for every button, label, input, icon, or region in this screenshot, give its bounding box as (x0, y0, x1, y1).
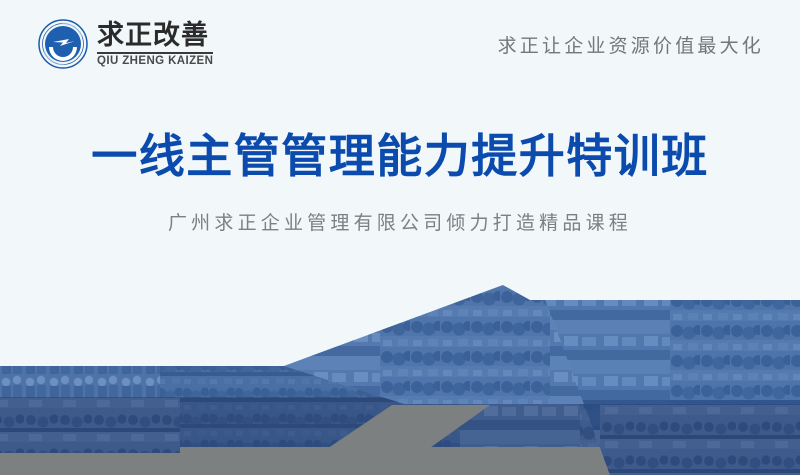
brand-wordmark: 求正改善 QIU ZHENG KAIZEN (97, 21, 213, 66)
collage-bottom-auditorium (0, 398, 180, 453)
hero-block: 一线主管管理能力提升特训班 广州求正企业管理有限公司倾力打造精品课程 (0, 128, 800, 235)
brand-logo[interactable]: 求正改善 QIU ZHENG KAIZEN (38, 19, 213, 69)
course-title: 一线主管管理能力提升特训班 (0, 128, 800, 186)
slash-notch-top (503, 285, 800, 300)
qiuzheng-circular-emblem-icon (38, 19, 88, 69)
collage-bottom-right-auditorium (600, 405, 800, 475)
brand-name-cn: 求正改善 (97, 21, 213, 49)
company-slogan: 求正让企业资源价值最大化 (498, 31, 764, 58)
brand-divider (97, 52, 213, 54)
poster-header: 求正改善 QIU ZHENG KAIZEN 求正让企业资源价值最大化 (0, 0, 800, 88)
course-subtitle: 广州求正企业管理有限公司倾力打造精品课程 (0, 208, 800, 235)
brand-name-en: QIU ZHENG KAIZEN (97, 55, 213, 67)
poster-canvas: 求正改善 QIU ZHENG KAIZEN 求正让企业资源价值最大化 一线主管管… (0, 0, 800, 475)
